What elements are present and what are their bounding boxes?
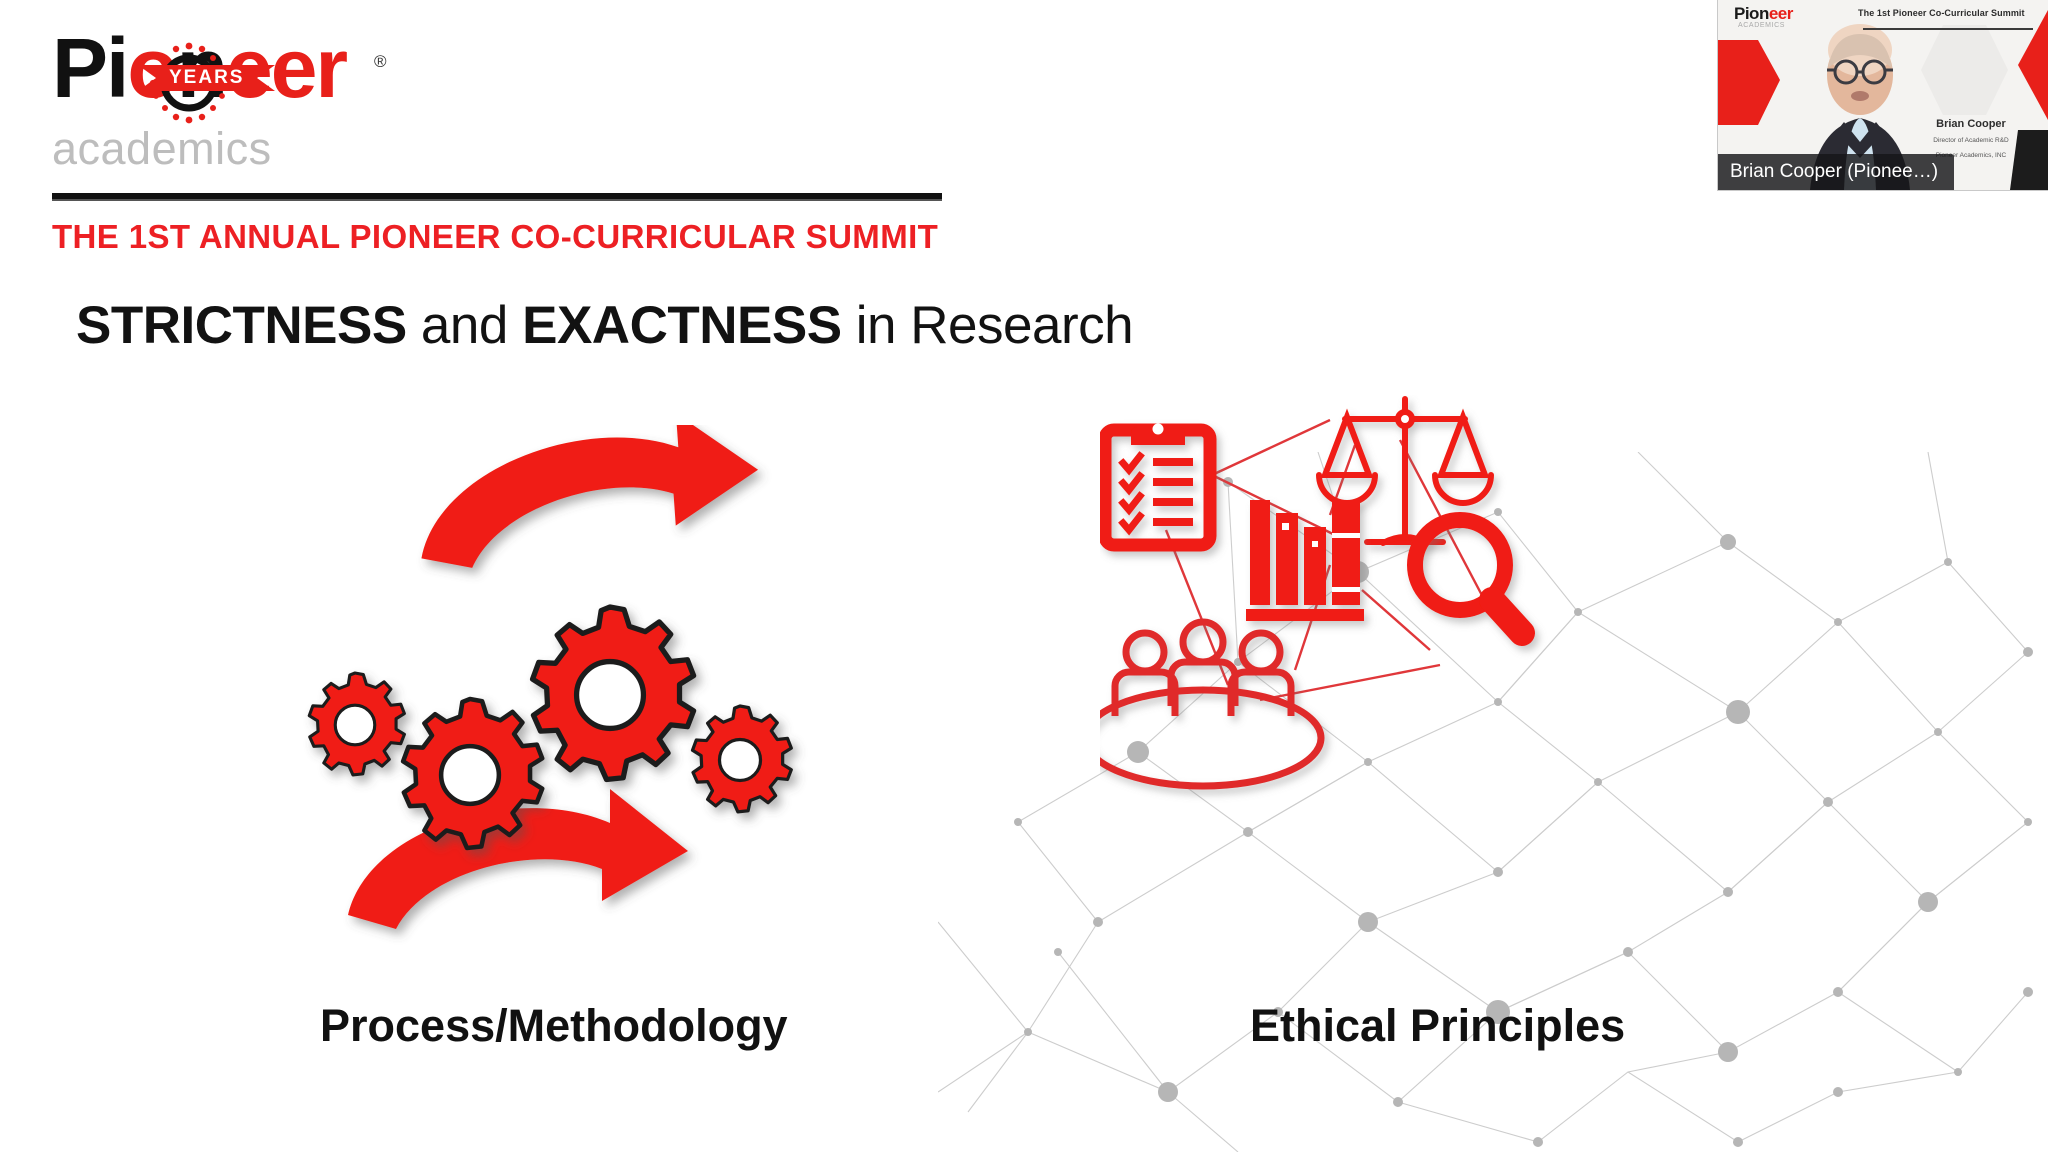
summit-eyebrow-text: THE 1ST ANNUAL PIONEER CO-CURRICULAR SUM… (52, 218, 938, 256)
logo-years-badge: YEARS (156, 65, 257, 91)
webcam-participant-name-label: Brian Cooper (Pionee…) (1718, 154, 1954, 190)
webcam-headline: The 1st Pioneer Co-Curricular Summit (1858, 8, 2025, 18)
cycle-arrow-top-icon (413, 425, 764, 571)
webcam-video-tile[interactable]: Pioneer ACADEMICS The 1st Pioneer Co-Cur… (1717, 0, 2048, 191)
pioneer-logo: Pioneer (52, 18, 952, 128)
webcam-person-name: Brian Cooper (1906, 118, 2036, 130)
title-part-in-research: in Research (842, 296, 1134, 355)
panel-caption-ethics: Ethical Principles (1250, 1000, 1625, 1052)
title-part-exactness: EXACTNESS (522, 296, 841, 355)
gear-small-left (309, 673, 404, 775)
committee-people-icon (1100, 622, 1321, 786)
cycle-arrow-bottom-icon (348, 789, 688, 929)
logo-wordmark: Pioneer (52, 18, 452, 128)
clipboard-checklist-icon (1105, 424, 1210, 546)
ethics-network-icon (1100, 395, 1700, 965)
webcam-logo-subtitle: ACADEMICS (1738, 22, 1785, 29)
gear-small-right (692, 706, 791, 812)
slide-title: STRICTNESS and EXACTNESS in Research (76, 295, 1133, 356)
title-part-and: and (407, 296, 522, 355)
registered-trademark-icon: ® (374, 52, 387, 72)
gear-large (533, 607, 694, 779)
webcam-person-role: Director of Academic R&D (1906, 137, 2036, 144)
header-divider-rule (52, 193, 942, 201)
books-icon (1246, 500, 1364, 621)
webcam-pioneer-logo: Pioneer (1734, 5, 1793, 22)
logo-subtitle-academics: academics (52, 126, 272, 171)
gear-medium (403, 699, 542, 848)
magnifying-glass-icon (1415, 520, 1522, 633)
presentation-slide: Pioneer (0, 0, 2048, 1152)
webcam-headline-rule (1863, 28, 2033, 30)
panel-caption-process: Process/Methodology (320, 1000, 788, 1052)
title-part-strictness: STRICTNESS (76, 296, 407, 355)
gears-cycle-icon (300, 425, 820, 945)
